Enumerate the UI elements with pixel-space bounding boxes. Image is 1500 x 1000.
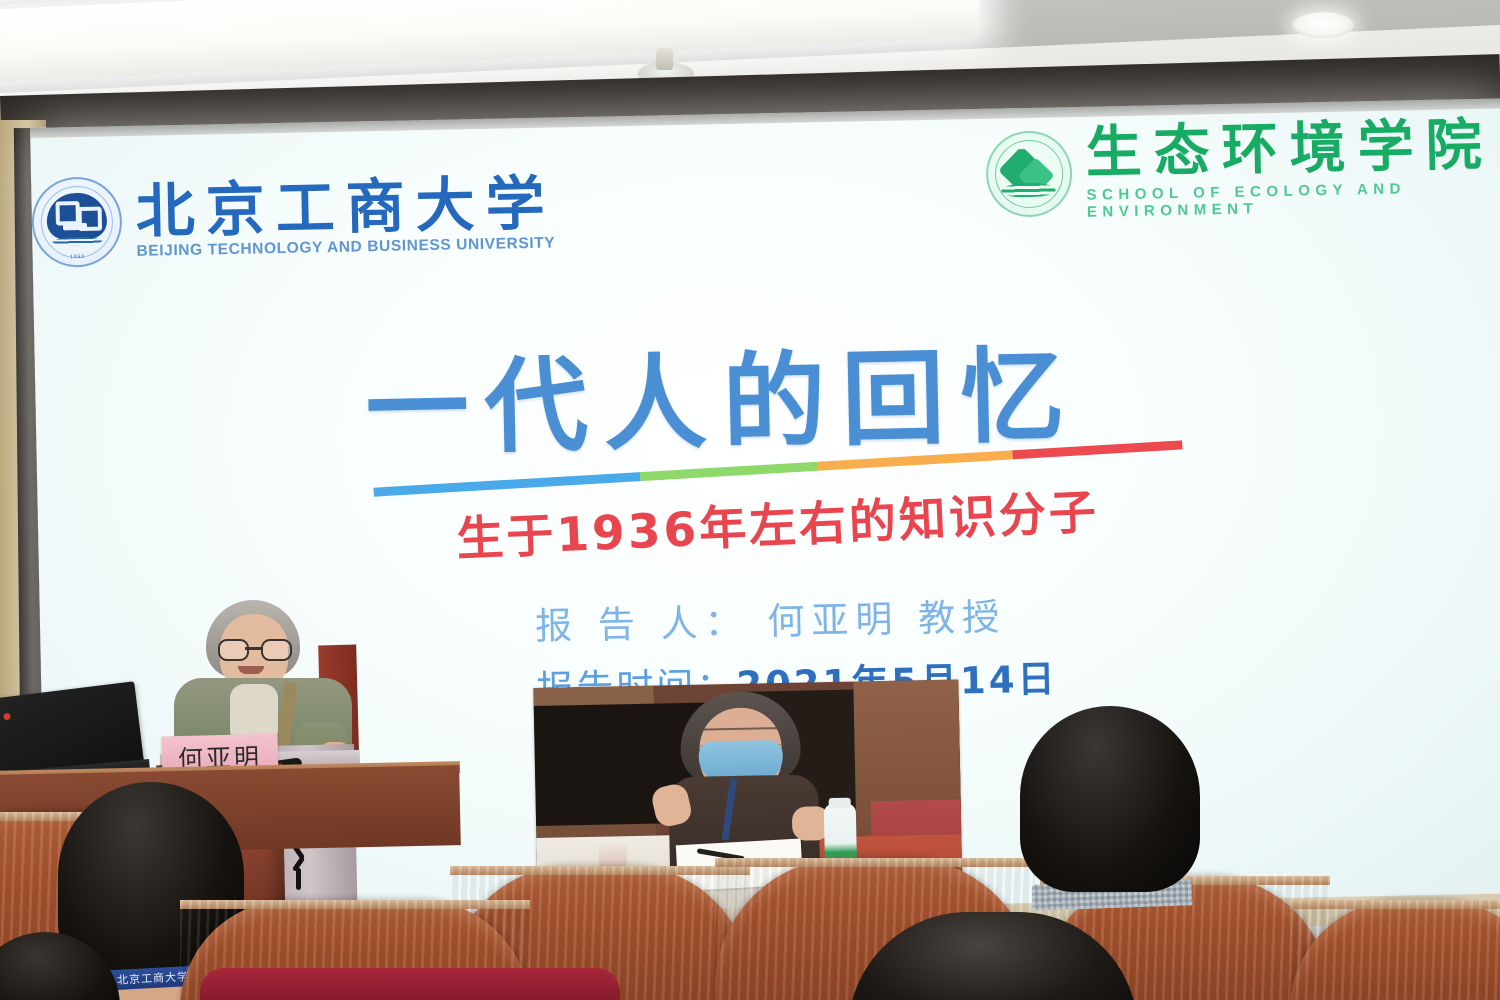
speaker-glasses-icon: [218, 639, 290, 657]
school-of-ecology-seal-icon: [985, 130, 1073, 218]
downlight-icon: [1292, 12, 1354, 38]
slide-title-block: 一代人的回忆 生于1936年左右的知识分子: [365, 342, 1249, 563]
lanyard-text: 北京工商大学: [117, 968, 190, 988]
laptop-logo-icon: [3, 713, 11, 721]
school-name-en: SCHOOL OF ECOLOGY AND ENVIRONMENT: [1086, 178, 1500, 220]
lecture-hall-photo: 1950 北京工商大学 BEIJING TECHNOLOGY AND BUSIN…: [0, 0, 1500, 1000]
auditorium-seat: [1290, 900, 1500, 1000]
university-logo: 1950 北京工商大学 BEIJING TECHNOLOGY AND BUSIN…: [31, 167, 557, 267]
btbu-seal-icon: 1950: [31, 176, 123, 268]
audience-head: [1020, 706, 1200, 892]
sprinkler-stem: [656, 48, 673, 70]
school-name-cn: 生态环境学院: [1085, 116, 1500, 183]
seat-cushion: [200, 968, 620, 1000]
presenter-line: 报 告 人： 何亚明 教授: [534, 586, 1056, 650]
btbu-seal-year: 1950: [35, 253, 121, 261]
university-name-cn: 北京工商大学: [135, 173, 556, 240]
divider-segment-green: [640, 462, 818, 481]
photo-person: [661, 690, 824, 853]
school-logo: 生态环境学院 SCHOOL OF ECOLOGY AND ENVIRONMENT: [985, 116, 1500, 222]
divider-segment-blue: [373, 472, 640, 497]
